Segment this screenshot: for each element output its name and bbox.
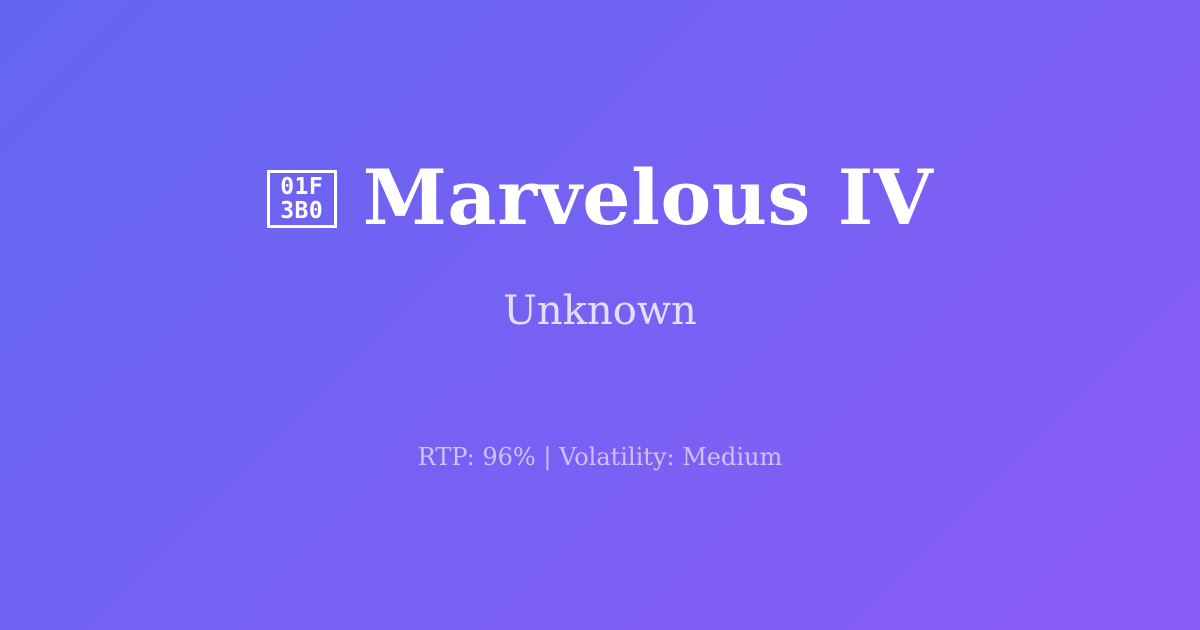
tofu-codepoint-top: 01F — [280, 175, 323, 199]
slot-machine-icon: 01F 3B0 — [267, 170, 337, 228]
title-row: 01F 3B0 Marvelous IV — [267, 158, 934, 239]
game-stats-line: RTP: 96% | Volatility: Medium — [418, 443, 783, 472]
page-title: Marvelous IV — [363, 158, 934, 239]
tofu-codepoint-bottom: 3B0 — [280, 199, 323, 223]
game-preview-card: 01F 3B0 Marvelous IV Unknown RTP: 96% | … — [0, 0, 1200, 630]
game-provider-subtitle: Unknown — [503, 287, 697, 335]
